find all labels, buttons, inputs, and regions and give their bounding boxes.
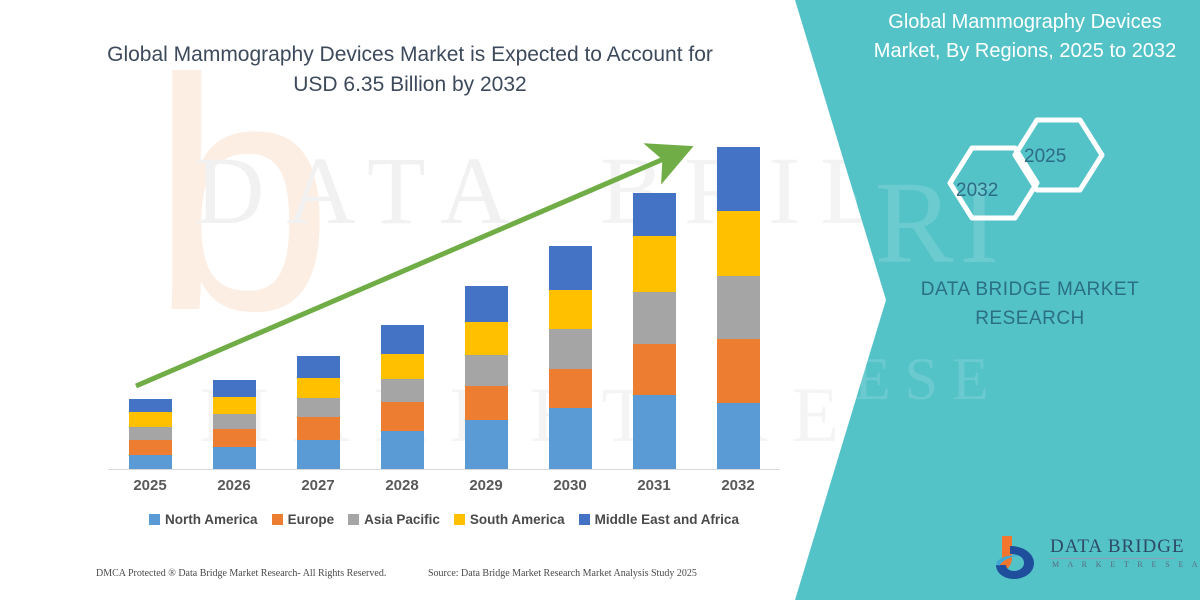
panel-brand-line2: RESEARCH xyxy=(975,308,1085,329)
hexagon-shapes xyxy=(920,110,1120,230)
hexagon-label-2025: 2025 xyxy=(1024,146,1066,168)
hexagon-badges: 2025 2032 xyxy=(920,110,1120,230)
logo-wordmark: DATA BRIDGE xyxy=(1050,536,1185,558)
data-bridge-logo: DATA BRIDGE M A R K E T R E S E A R C H xyxy=(990,532,1190,584)
panel-title: Global Mammography Devices Market, By Re… xyxy=(860,8,1190,66)
data-bridge-mark-icon xyxy=(990,532,1046,582)
hexagon-label-2032: 2032 xyxy=(956,180,998,202)
logo-divider xyxy=(1050,558,1175,559)
panel-title-line1: Global Mammography Devices xyxy=(888,11,1161,33)
infographic-canvas: b DATA BRIDGE MARKET RESEARCH Global Mam… xyxy=(0,0,1200,600)
panel-brand-line1: DATA BRIDGE MARKET xyxy=(921,279,1139,300)
panel-title-line2: Market, By Regions, 2025 to 2032 xyxy=(874,40,1176,62)
panel-brand-name: DATA BRIDGE MARKET RESEARCH xyxy=(880,275,1180,333)
logo-tagline: M A R K E T R E S E A R C H xyxy=(1052,560,1200,569)
